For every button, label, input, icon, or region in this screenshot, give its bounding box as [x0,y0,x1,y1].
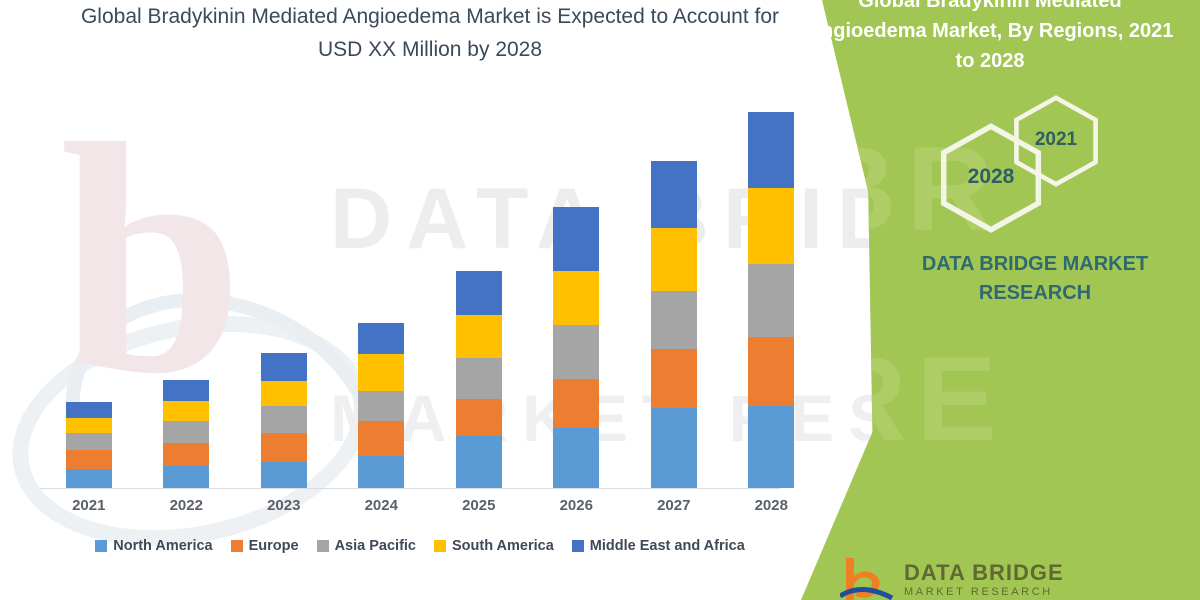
bar-segment [66,469,112,488]
bar-segment [553,379,599,428]
bar-segment [553,325,599,379]
bar-2027 [651,161,697,488]
logo-name: DATA BRIDGE [904,560,1064,586]
legend-label: Europe [249,538,299,554]
bar-segment [358,323,404,354]
bar-segment [358,421,404,455]
bar-segment [261,433,307,462]
brand-text: DATA BRIDGE MARKET RESEARCH [900,250,1170,308]
legend-label: South America [452,538,554,554]
x-tick-2026: 2026 [541,497,611,514]
bar-segment [163,380,209,400]
legend-swatch-icon [434,540,446,552]
legend-item-asia-pacific[interactable]: Asia Pacific [317,538,416,554]
bar-segment [358,456,404,488]
bar-segment [261,406,307,433]
bar-2028 [748,112,794,488]
legend-item-north-america[interactable]: North America [95,538,212,554]
x-axis-line [40,488,780,489]
bar-segment [358,354,404,391]
bar-segment [261,353,307,381]
bar-segment [553,207,599,272]
logo-b-icon [840,556,894,600]
bar-segment [553,271,599,325]
bar-segment [651,291,697,349]
bar-segment [261,381,307,406]
legend-label: North America [113,538,212,554]
x-tick-2023: 2023 [249,497,319,514]
legend-item-middle-east-and-africa[interactable]: Middle East and Africa [572,538,745,554]
panel-title: Global Bradykinin Mediated Angioedema Ma… [780,0,1200,76]
infographic-canvas: b DATA BRIDGE MARKET RESEARCH Global Bra… [0,0,1200,600]
stacked-bar-chart [40,100,820,488]
bar-2024 [358,323,404,488]
bar-segment [456,436,502,488]
bar-segment [748,337,794,406]
x-tick-2028: 2028 [736,497,806,514]
bar-2022 [163,380,209,488]
x-tick-2022: 2022 [151,497,221,514]
data-bridge-logo: DATA BRIDGE MARKET RESEARCH [840,556,1170,600]
bar-segment [651,228,697,291]
bar-2025 [456,271,502,488]
brand-line-1: DATA BRIDGE MARKET [900,250,1170,279]
bar-segment [163,443,209,467]
bar-segment [163,421,209,443]
bar-segment [456,315,502,358]
legend-swatch-icon [95,540,107,552]
bar-segment [748,264,794,337]
legend-label: Asia Pacific [335,538,416,554]
page-title: Global Bradykinin Mediated Angioedema Ma… [60,0,800,66]
bar-2021 [66,402,112,488]
bar-segment [358,391,404,421]
bar-segment [163,466,209,488]
legend-swatch-icon [572,540,584,552]
legend-swatch-icon [317,540,329,552]
hexagon-2021: 2021 [1010,95,1102,187]
x-tick-2025: 2025 [444,497,514,514]
bar-segment [456,399,502,437]
bar-segment [66,433,112,450]
hexagon-2021-label: 2021 [1010,129,1102,151]
bar-segment [456,358,502,399]
x-tick-2024: 2024 [346,497,416,514]
bar-2026 [553,207,599,488]
bar-segment [553,428,599,488]
legend-swatch-icon [231,540,243,552]
bar-2023 [261,353,307,488]
legend-item-south-america[interactable]: South America [434,538,554,554]
bar-segment [651,349,697,408]
bar-segment [748,406,794,488]
bar-segment [748,188,794,263]
x-tick-2027: 2027 [639,497,709,514]
hexagon-badges: 2028 2021 [920,95,1150,230]
bar-segment [651,408,697,488]
x-tick-2021: 2021 [54,497,124,514]
brand-line-2: RESEARCH [900,279,1170,308]
bar-segment [456,271,502,314]
bar-segment [66,402,112,418]
bar-segment [748,112,794,189]
bar-segment [651,161,697,228]
bar-segment [66,450,112,468]
logo-subtitle: MARKET RESEARCH [904,586,1053,598]
bar-segment [66,418,112,433]
legend-item-europe[interactable]: Europe [231,538,299,554]
chart-legend: North AmericaEuropeAsia PacificSouth Ame… [40,538,800,554]
bar-segment [261,462,307,488]
legend-label: Middle East and Africa [590,538,745,554]
bar-segment [163,401,209,421]
